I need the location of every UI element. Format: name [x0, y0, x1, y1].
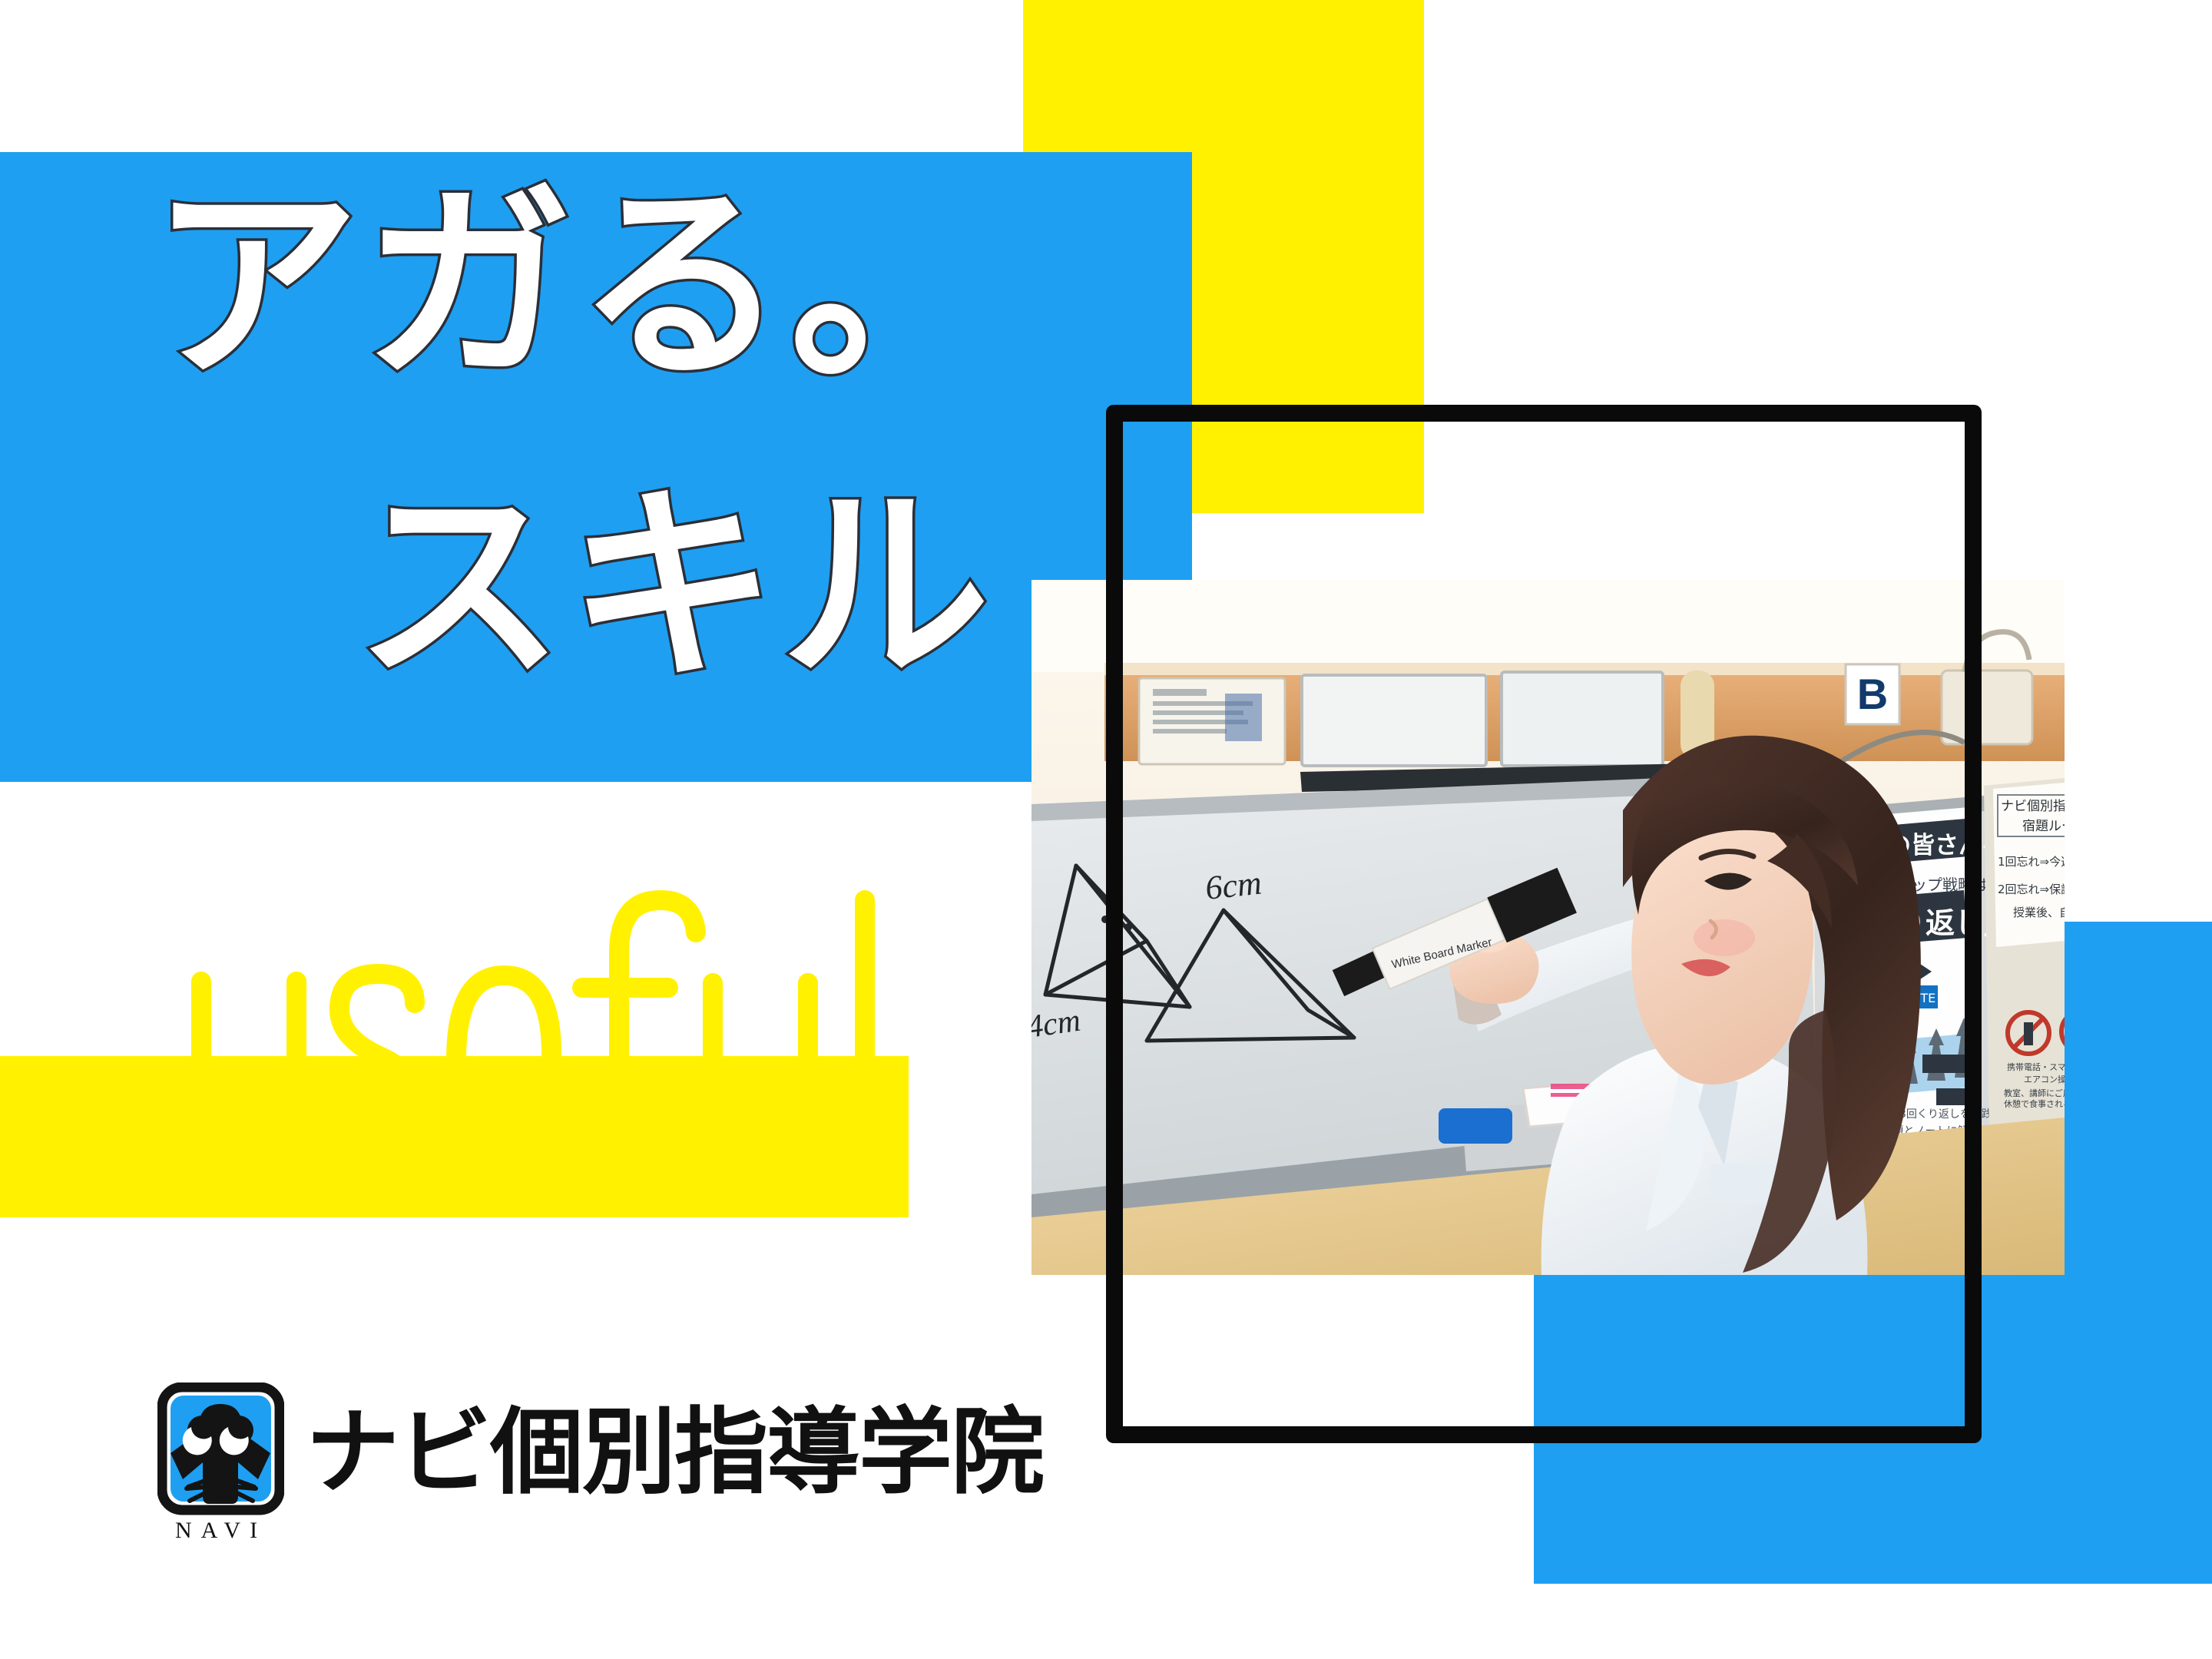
- tagline-useful-glyphs: [161, 866, 922, 1189]
- svg-text:携帯電話・スマホ使用禁止: 携帯電話・スマホ使用禁止: [2007, 1061, 2065, 1072]
- brand-logo: NAVI ナビ個別指導学院: [157, 1382, 995, 1563]
- brand-wordmark: ナビ個別指導学院: [306, 1406, 1043, 1499]
- navi-mascot-glyph: [157, 1382, 284, 1517]
- svg-text:休憩で食事される方は当教室の指示に従って: 休憩で食事される方は当教室の指示に従って: [2004, 1098, 2065, 1109]
- svg-text:授業後、自習室で居残り: 授業後、自習室で居残り: [2013, 906, 2065, 919]
- svg-text:エアコン操作禁止: エアコン操作禁止: [2024, 1074, 2065, 1084]
- headline-line-1: アガる。: [151, 181, 1003, 390]
- navi-mascot-icon: NAVI: [157, 1382, 284, 1544]
- navi-label: NAVI: [157, 1518, 284, 1544]
- svg-text:1回忘れ⇒今週分の宿題に上乗せ: 1回忘れ⇒今週分の宿題に上乗せ: [1998, 855, 2065, 869]
- tagline-useful: [161, 866, 922, 1189]
- svg-text:ナビ個別指導学院岡崎北校: ナビ個別指導学院岡崎北校: [2001, 799, 2065, 814]
- svg-text:2回忘れ⇒保護者の方に電話: 2回忘れ⇒保護者の方に電話: [1998, 882, 2065, 896]
- svg-text:宿題ルール: 宿題ルール: [2022, 819, 2065, 834]
- photo-outline-frame: [1106, 405, 1982, 1443]
- poster-canvas: B 6cm 4cm: [0, 0, 2212, 1659]
- headline-line-2: スキル: [355, 482, 994, 691]
- svg-text:教室、講師にご用件がある場合および: 教室、講師にご用件がある場合および: [2004, 1088, 2065, 1098]
